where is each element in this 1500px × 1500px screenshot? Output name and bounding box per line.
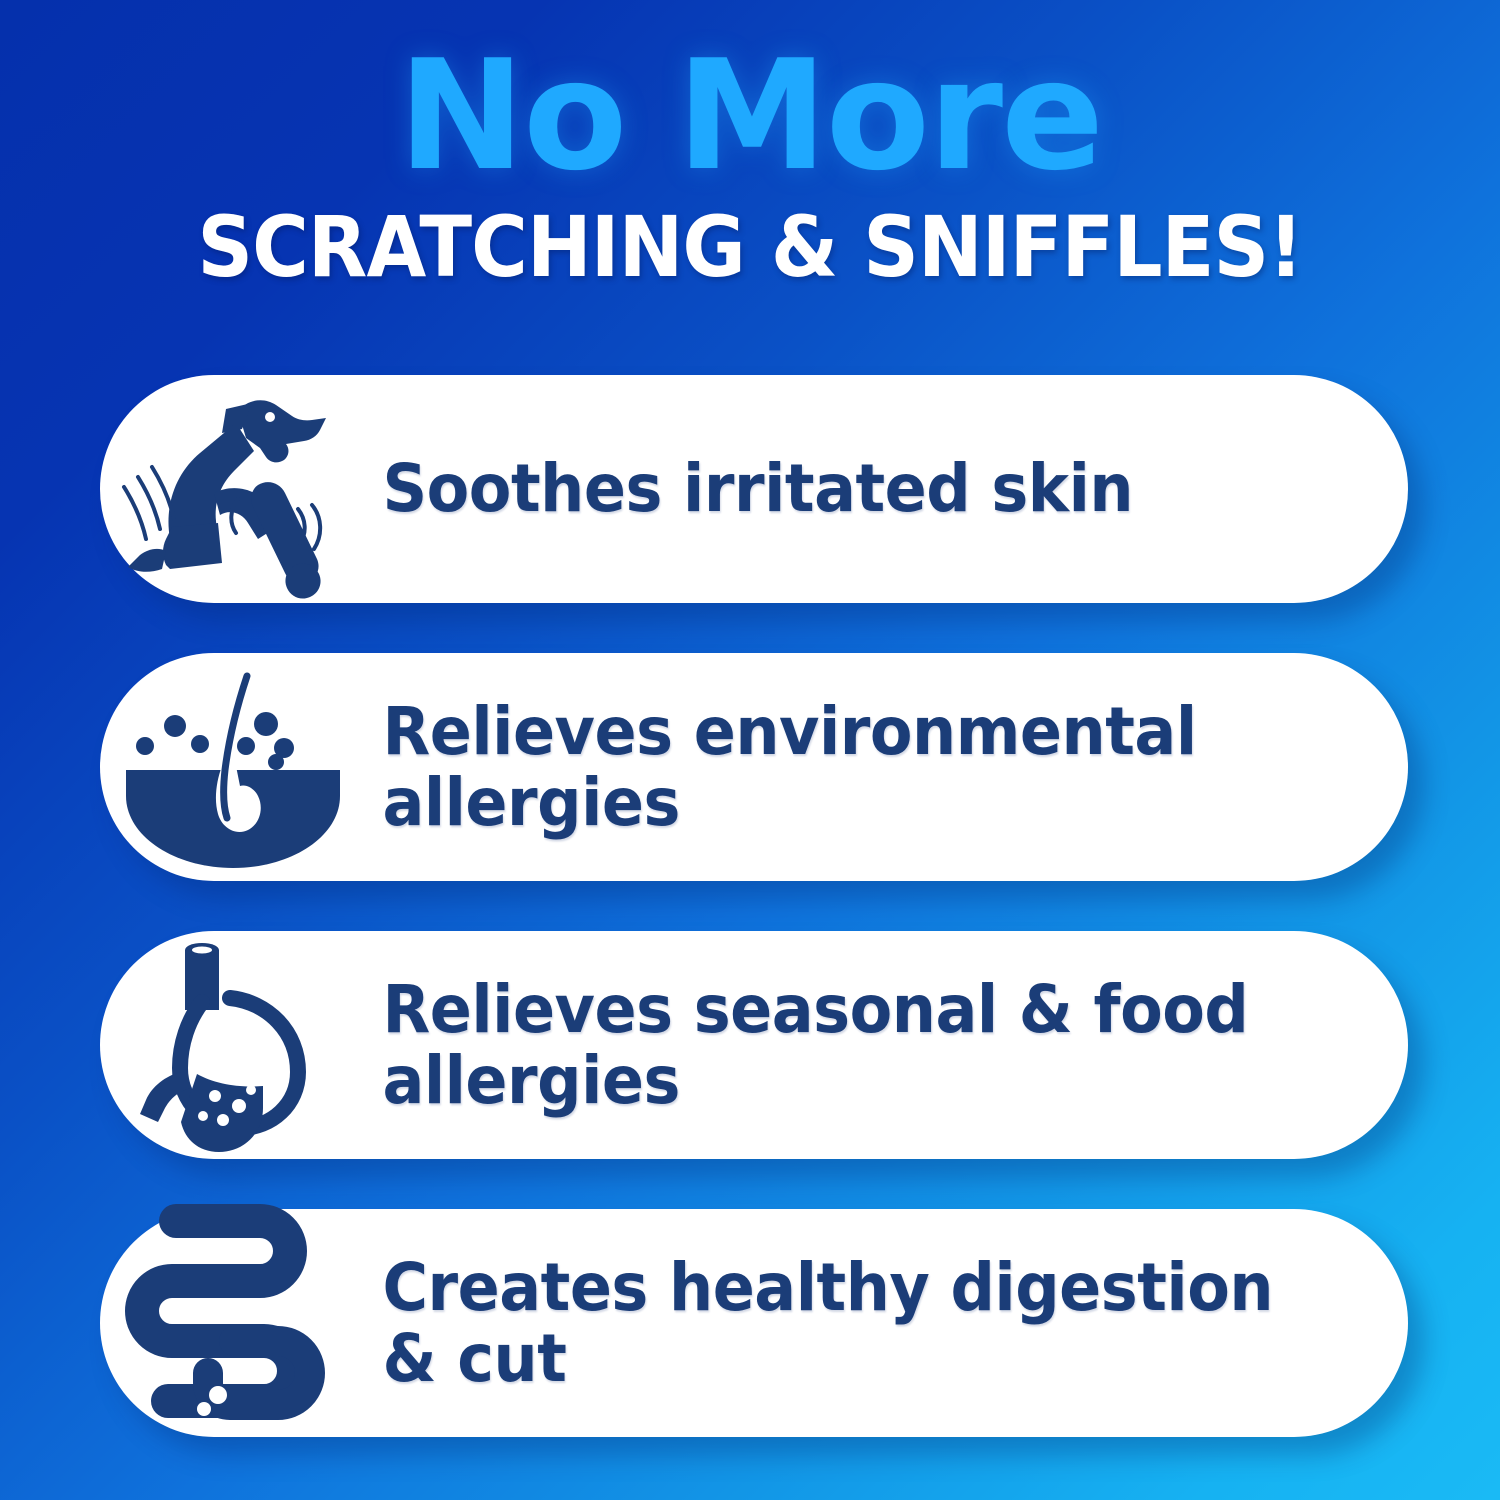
benefit-label: Relieves environmental allergies bbox=[358, 696, 1345, 839]
poster-header: No More SCRATCHING & SNIFFLES! bbox=[0, 0, 1500, 289]
promo-poster: No More SCRATCHING & SNIFFLES! bbox=[0, 0, 1500, 1500]
dog-scratching-icon bbox=[108, 375, 358, 603]
benefit-card: Relieves environmental allergies bbox=[100, 653, 1408, 881]
hair-follicle-skin-icon bbox=[108, 653, 358, 881]
stomach-icon bbox=[108, 931, 358, 1159]
page-subtitle: SCRATCHING & SNIFFLES! bbox=[60, 205, 1440, 289]
benefit-label: Creates healthy digestion & cut bbox=[358, 1252, 1345, 1395]
benefit-card: Relieves seasonal & food allergies bbox=[100, 931, 1408, 1159]
benefit-label: Relieves seasonal & food allergies bbox=[358, 974, 1345, 1117]
page-title: No More bbox=[0, 42, 1500, 191]
benefit-label: Soothes irritated skin bbox=[358, 453, 1345, 524]
benefit-card: Soothes irritated skin bbox=[100, 375, 1408, 603]
benefit-card: Creates healthy digestion & cut bbox=[100, 1209, 1408, 1437]
intestine-icon bbox=[108, 1209, 358, 1437]
benefits-list: Soothes irritated skin bbox=[0, 375, 1500, 1487]
